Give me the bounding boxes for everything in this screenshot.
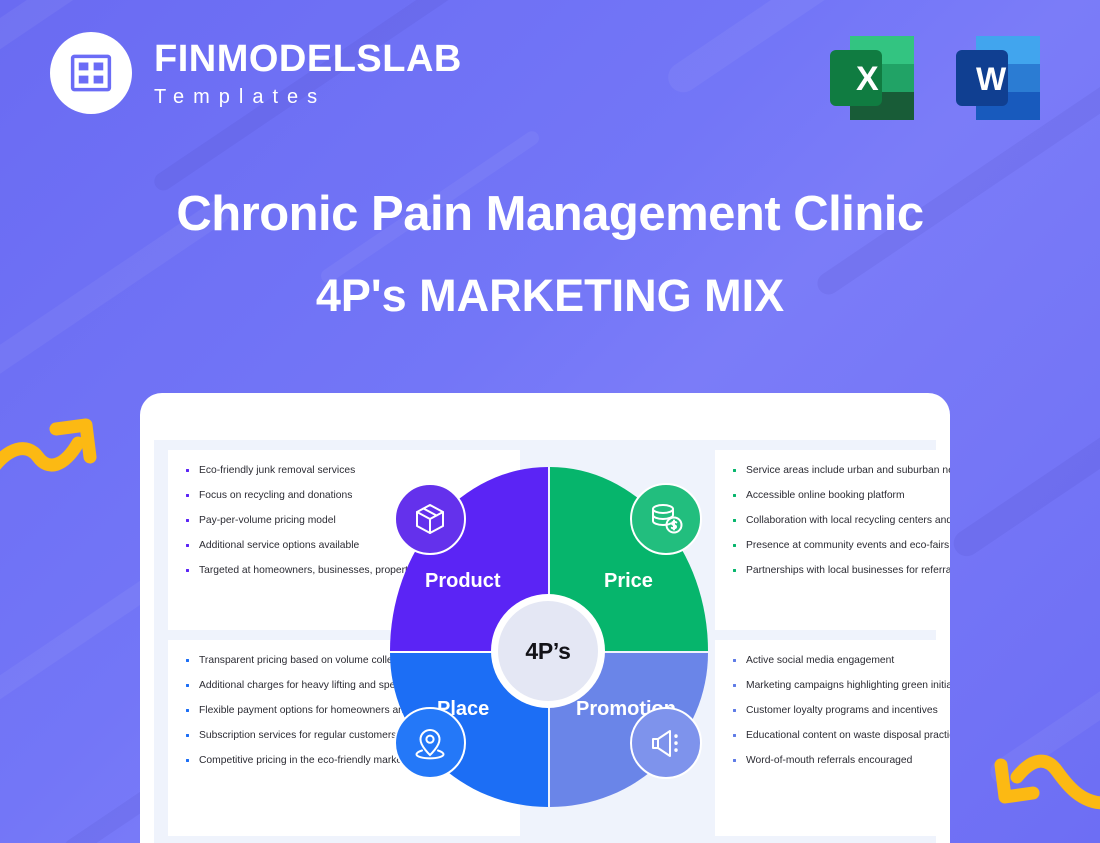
brand-name: FINMODELSLAB bbox=[154, 40, 462, 78]
list-item: Customer loyalty programs and incentives bbox=[733, 704, 950, 718]
box-package-icon bbox=[394, 483, 466, 555]
quadrant-label-price: Price bbox=[604, 570, 653, 593]
price-text-panel: Service areas include urban and suburban… bbox=[715, 450, 950, 630]
megaphone-icon bbox=[630, 707, 702, 779]
grid-square-icon bbox=[70, 52, 112, 94]
excel-icon[interactable]: X bbox=[822, 28, 922, 128]
squiggle-arrow-down-left-icon bbox=[971, 735, 1100, 820]
page-title: Chronic Pain Management Clinic bbox=[0, 190, 1100, 239]
location-pin-icon bbox=[394, 707, 466, 779]
list-item: Educational content on waste disposal pr… bbox=[733, 729, 950, 743]
brand-text: FINMODELSLAB Templates bbox=[154, 40, 462, 107]
list-item: Presence at community events and eco-fai… bbox=[733, 539, 950, 553]
svg-text:X: X bbox=[856, 60, 879, 98]
promotion-text-panel: Active social media engagement Marketing… bbox=[715, 640, 950, 836]
logo-badge bbox=[50, 32, 132, 114]
svg-text:W: W bbox=[976, 61, 1007, 97]
price-bullet-list: Service areas include urban and suburban… bbox=[715, 450, 950, 578]
promotion-bullet-list: Active social media engagement Marketing… bbox=[715, 640, 950, 768]
quadrant-label-product: Product bbox=[425, 570, 501, 593]
list-item: Accessible online booking platform bbox=[733, 489, 950, 503]
page-header: FINMODELSLAB Templates X W bbox=[0, 0, 1100, 160]
list-item: Word-of-mouth referrals encouraged bbox=[733, 754, 950, 768]
word-icon[interactable]: W bbox=[948, 28, 1048, 128]
list-item: Active social media engagement bbox=[733, 654, 950, 668]
page-subtitle: 4P's MARKETING MIX bbox=[0, 273, 1100, 318]
list-item: Partnerships with local businesses for r… bbox=[733, 564, 950, 578]
wheel-center: 4P’s bbox=[498, 601, 598, 701]
squiggle-arrow-up-right-icon bbox=[0, 405, 121, 490]
page-title-block: Chronic Pain Management Clinic 4P's MARK… bbox=[0, 190, 1100, 318]
brand-subtitle: Templates bbox=[154, 87, 462, 107]
list-item: Marketing campaigns highlighting green i… bbox=[733, 679, 950, 693]
list-item: Collaboration with local recycling cente… bbox=[733, 514, 950, 528]
office-format-icons: X W bbox=[822, 28, 1048, 128]
coins-dollar-icon bbox=[630, 483, 702, 555]
brand-logo[interactable]: FINMODELSLAB Templates bbox=[50, 32, 462, 114]
list-item: Service areas include urban and suburban… bbox=[733, 464, 950, 478]
wheel-center-label: 4P’s bbox=[525, 638, 570, 665]
four-ps-wheel: Product Price Place Promotion bbox=[382, 459, 716, 815]
